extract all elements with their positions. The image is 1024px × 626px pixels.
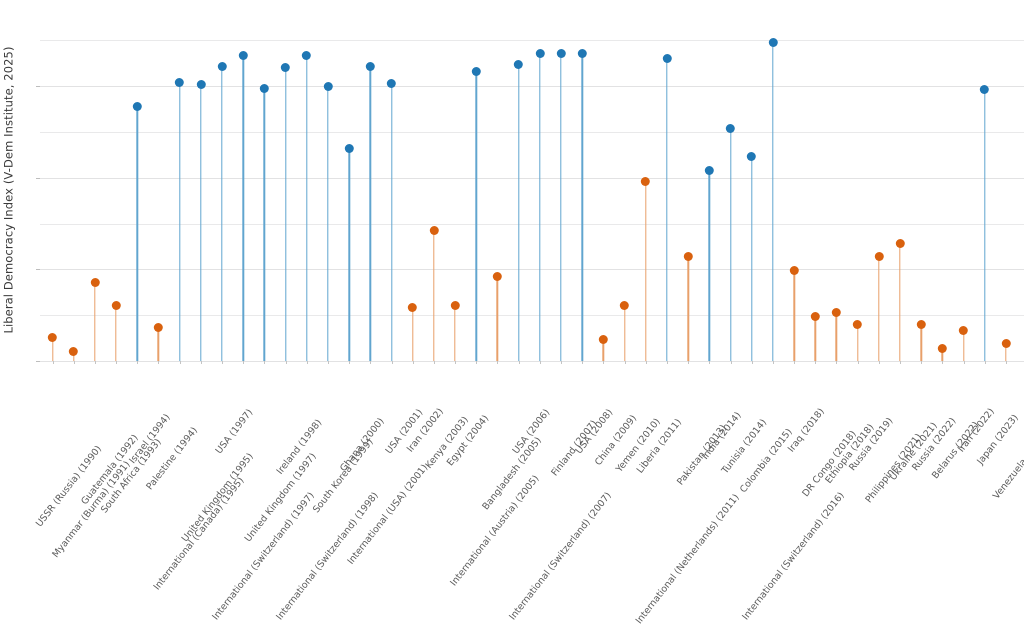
data-point-dot[interactable] <box>133 102 142 111</box>
x-axis-tick-mark <box>731 361 732 364</box>
stem-marker[interactable] <box>857 324 858 361</box>
stem-marker[interactable] <box>370 66 371 361</box>
stem-marker[interactable] <box>497 277 498 361</box>
stem-marker[interactable] <box>348 149 349 361</box>
data-point-dot[interactable] <box>790 266 799 275</box>
stem-marker[interactable] <box>476 72 477 361</box>
data-point-dot[interactable] <box>832 308 841 317</box>
data-point-dot[interactable] <box>175 78 184 87</box>
data-point-dot[interactable] <box>662 54 671 63</box>
x-axis-tick-label: Myanmar (Burma) (1991) <box>50 459 132 560</box>
stem-marker[interactable] <box>878 257 879 361</box>
x-axis-tick-mark <box>921 361 922 364</box>
stem-marker[interactable] <box>518 64 519 361</box>
data-point-dot[interactable] <box>853 320 862 329</box>
stem-marker[interactable] <box>285 68 286 361</box>
data-point-dot[interactable] <box>154 323 163 332</box>
x-axis-tick-mark <box>264 361 265 364</box>
x-axis-tick-mark <box>180 361 181 364</box>
stem-marker[interactable] <box>687 257 688 361</box>
data-point-dot[interactable] <box>514 60 523 69</box>
y-axis-title: Liberal Democracy Index (V-Dem Institute… <box>0 0 18 380</box>
stem-marker[interactable] <box>412 308 413 361</box>
x-axis-tick-mark <box>74 361 75 364</box>
x-axis-tick-mark <box>158 361 159 364</box>
data-point-dot[interactable] <box>747 152 756 161</box>
stem-marker[interactable] <box>793 270 794 361</box>
liberal-democracy-index-chart: Liberal Democracy Index (V-Dem Institute… <box>0 0 1024 543</box>
x-axis-tick-mark <box>519 361 520 364</box>
stem-marker[interactable] <box>221 66 222 361</box>
data-point-dot[interactable] <box>196 80 205 89</box>
x-axis-tick-mark <box>1006 361 1007 364</box>
data-point-dot[interactable] <box>726 124 735 133</box>
x-axis-tick-mark <box>413 361 414 364</box>
data-point-dot[interactable] <box>260 84 269 93</box>
stem-marker[interactable] <box>115 306 116 361</box>
stem-marker[interactable] <box>666 59 667 361</box>
x-axis-tick-mark <box>116 361 117 364</box>
data-point-dot[interactable] <box>90 278 99 287</box>
x-axis-tick-mark <box>836 361 837 364</box>
x-axis-tick-mark <box>476 361 477 364</box>
data-point-dot[interactable] <box>69 347 78 356</box>
gridline-minor <box>40 132 1024 133</box>
stem-marker[interactable] <box>624 306 625 361</box>
x-axis-tick-mark <box>773 361 774 364</box>
data-point-dot[interactable] <box>451 301 460 310</box>
stem-marker[interactable] <box>94 282 95 361</box>
gridline-minor <box>40 224 1024 225</box>
stem-marker[interactable] <box>327 86 328 361</box>
stem-marker[interactable] <box>200 84 201 361</box>
data-point-dot[interactable] <box>578 49 587 58</box>
stem-marker[interactable] <box>772 42 773 361</box>
x-axis-tick-mark <box>603 361 604 364</box>
x-axis-tick-mark <box>53 361 54 364</box>
y-axis-tick-mark <box>36 178 40 179</box>
data-point-dot[interactable] <box>599 335 608 344</box>
data-point-dot[interactable] <box>239 51 248 60</box>
x-axis-tick-mark <box>307 361 308 364</box>
stem-marker[interactable] <box>603 340 604 361</box>
stem-marker[interactable] <box>391 84 392 361</box>
stem-marker[interactable] <box>899 244 900 361</box>
x-axis-tick-mark <box>455 361 456 364</box>
x-axis-tick-mark <box>286 361 287 364</box>
data-point-dot[interactable] <box>345 144 354 153</box>
stem-marker[interactable] <box>984 90 985 361</box>
stem-marker[interactable] <box>454 306 455 361</box>
data-point-dot[interactable] <box>493 272 502 281</box>
x-axis-tick-mark <box>688 361 689 364</box>
x-axis-tick-mark <box>900 361 901 364</box>
x-axis-tick-label: International (Canada) (1995) <box>151 475 246 592</box>
x-axis-tick-mark <box>222 361 223 364</box>
x-axis-tick-label: International (Switzerland) (2016) <box>740 490 847 622</box>
stem-marker[interactable] <box>582 53 583 361</box>
stem-marker[interactable] <box>942 348 943 361</box>
x-axis-tick-mark <box>858 361 859 364</box>
data-point-dot[interactable] <box>917 320 926 329</box>
x-axis-tick-mark <box>794 361 795 364</box>
plot-area: 0.000.250.500.75 <box>40 24 1024 361</box>
stem-marker[interactable] <box>264 88 265 361</box>
stem-marker[interactable] <box>539 53 540 361</box>
data-point-dot[interactable] <box>48 333 57 342</box>
x-axis-tick-label: International (Switzerland) (2007) <box>507 490 614 622</box>
x-axis-tick-mark <box>879 361 880 364</box>
stem-marker[interactable] <box>645 182 646 361</box>
stem-marker[interactable] <box>73 352 74 361</box>
data-point-dot[interactable] <box>112 301 121 310</box>
data-point-dot[interactable] <box>429 226 438 235</box>
y-axis-tick-mark <box>36 269 40 270</box>
data-point-dot[interactable] <box>408 303 417 312</box>
stem-marker[interactable] <box>306 55 307 361</box>
stem-marker[interactable] <box>560 54 561 361</box>
x-axis-tick-mark <box>497 361 498 364</box>
x-axis-tick-label: United Kingdom (1995) <box>180 451 256 544</box>
x-axis-tick-mark <box>646 361 647 364</box>
gridline-minor <box>40 40 1024 41</box>
data-point-dot[interactable] <box>217 62 226 71</box>
x-axis-tick-mark <box>243 361 244 364</box>
x-axis-tick-mark <box>137 361 138 364</box>
stem-marker[interactable] <box>242 55 243 361</box>
stem-marker[interactable] <box>751 157 752 361</box>
x-axis-tick-mark <box>370 361 371 364</box>
data-point-dot[interactable] <box>557 49 566 58</box>
data-point-dot[interactable] <box>281 63 290 72</box>
data-point-dot[interactable] <box>980 85 989 94</box>
x-axis-tick-mark <box>95 361 96 364</box>
data-point-dot[interactable] <box>641 177 650 186</box>
x-axis-tick-mark <box>392 361 393 364</box>
data-point-dot[interactable] <box>366 62 375 71</box>
x-axis-tick-mark <box>328 361 329 364</box>
x-axis-tick-mark <box>942 361 943 364</box>
stem-marker[interactable] <box>963 331 964 361</box>
stem-marker[interactable] <box>158 328 159 361</box>
stem-marker[interactable] <box>137 106 138 361</box>
data-point-dot[interactable] <box>959 326 968 335</box>
x-axis-tick-mark <box>434 361 435 364</box>
data-point-dot[interactable] <box>768 38 777 47</box>
x-axis-tick-label: International (Switzerland) (1998) <box>274 490 381 622</box>
gridline-major <box>40 269 1024 270</box>
data-point-dot[interactable] <box>302 51 311 60</box>
data-point-dot[interactable] <box>387 79 396 88</box>
x-axis-tick-mark <box>964 361 965 364</box>
x-axis-tick-mark <box>815 361 816 364</box>
x-axis-tick-mark <box>625 361 626 364</box>
x-axis-tick-mark <box>201 361 202 364</box>
data-point-dot[interactable] <box>874 252 883 261</box>
stem-marker[interactable] <box>836 313 837 361</box>
stem-marker[interactable] <box>433 231 434 361</box>
y-axis-title-text: Liberal Democracy Index (V-Dem Institute… <box>2 46 16 333</box>
stem-marker[interactable] <box>52 337 53 361</box>
stem-marker[interactable] <box>815 317 816 361</box>
data-point-dot[interactable] <box>938 344 947 353</box>
data-point-dot[interactable] <box>684 252 693 261</box>
stem-marker[interactable] <box>179 83 180 361</box>
stem-marker[interactable] <box>921 324 922 361</box>
x-axis-tick-mark <box>561 361 562 364</box>
data-point-dot[interactable] <box>1001 339 1010 348</box>
x-axis-tick-mark <box>540 361 541 364</box>
x-axis-tick-label: Ghana (2000) <box>338 416 387 474</box>
data-point-dot[interactable] <box>705 166 714 175</box>
x-axis-tick-mark <box>349 361 350 364</box>
stem-marker[interactable] <box>709 171 710 361</box>
data-point-dot[interactable] <box>472 67 481 76</box>
data-point-dot[interactable] <box>811 312 820 321</box>
x-axis-tick-mark <box>709 361 710 364</box>
x-axis-tick-labels: USSR (Russia) (1990)Myanmar (Burma) (199… <box>40 361 1024 543</box>
stem-marker[interactable] <box>730 128 731 361</box>
data-point-dot[interactable] <box>323 82 332 91</box>
data-point-dot[interactable] <box>896 239 905 248</box>
x-axis-tick-label: USA (1997) <box>214 407 256 456</box>
gridline-minor <box>40 315 1024 316</box>
data-point-dot[interactable] <box>620 301 629 310</box>
data-point-dot[interactable] <box>535 49 544 58</box>
y-axis-tick-mark <box>36 86 40 87</box>
x-axis-tick-mark <box>752 361 753 364</box>
x-axis-tick-label: International (Netherlands) (2011) <box>634 492 742 626</box>
x-axis-tick-mark <box>667 361 668 364</box>
gridline-major <box>40 178 1024 179</box>
gridline-major <box>40 86 1024 87</box>
x-axis-tick-mark <box>985 361 986 364</box>
x-axis-tick-mark <box>582 361 583 364</box>
stem-marker[interactable] <box>1005 343 1006 361</box>
